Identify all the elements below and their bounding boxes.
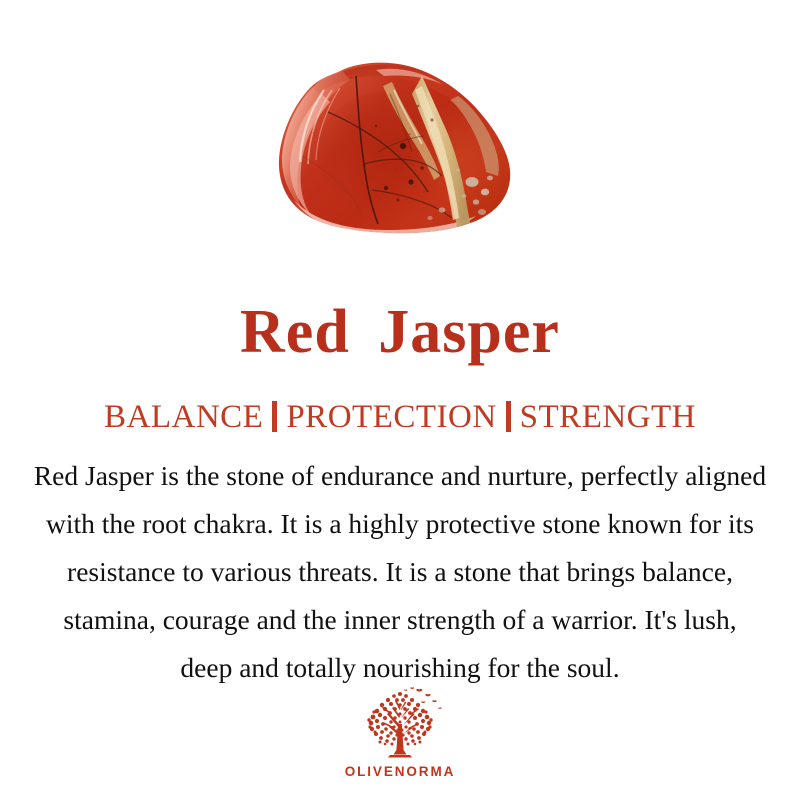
keyword-separator (506, 401, 511, 432)
keyword-protection: PROTECTION (286, 399, 496, 435)
description-line: with the root chakra. It is a highly pro… (0, 500, 800, 548)
description-line: resistance to various threats. It is a s… (0, 548, 800, 596)
brand-name: OLIVENORMA (345, 764, 456, 779)
keyword-separator (272, 401, 277, 432)
tree-icon (354, 684, 446, 762)
brand-logo: OLIVENORMA (0, 684, 800, 779)
description-paragraph: Red Jasper is the stone of endurance and… (0, 452, 800, 692)
keyword-strength: STRENGTH (520, 399, 696, 435)
description-line: stamina, courage and the inner strength … (0, 596, 800, 644)
red-jasper-info-card: Red Jasper BALANCEPROTECTIONSTRENGTH Red… (0, 0, 800, 800)
page-title: Red Jasper (0, 296, 800, 368)
red-jasper-stone-illustration (272, 60, 530, 240)
keyword-subtitle: BALANCEPROTECTIONSTRENGTH (0, 396, 800, 438)
gemstone-image (272, 60, 530, 240)
keyword-balance: BALANCE (104, 399, 263, 435)
description-line: Red Jasper is the stone of endurance and… (0, 452, 800, 500)
